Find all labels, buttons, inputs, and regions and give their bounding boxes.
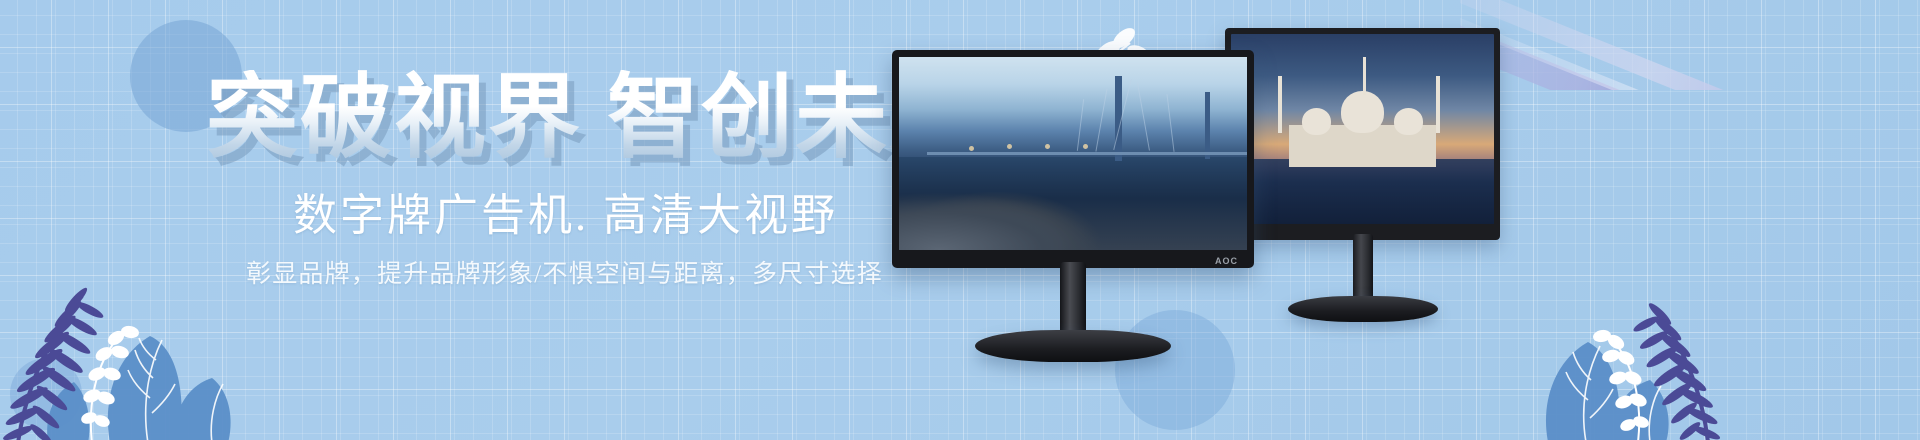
mosque-dome-center (1341, 91, 1383, 133)
monitor-front-stand-base (975, 330, 1171, 362)
aoc-logo: AOC (1215, 256, 1238, 266)
bridge-tower-far (1205, 92, 1210, 160)
tagline: 彰显品牌，提升品牌形象/不惧空间与距离，多尺寸选择 (246, 258, 883, 292)
monitor-front-stand-neck (1060, 262, 1086, 340)
product-monitors: AOC (880, 0, 1920, 440)
monitor-back-frame (1225, 28, 1500, 240)
monitor-front-frame: AOC (892, 50, 1254, 268)
mosque-dome-right (1394, 108, 1423, 135)
monitor-back (1225, 28, 1500, 320)
bridge-rocks (899, 192, 1101, 250)
mosque-minaret-right (1436, 76, 1440, 133)
promo-banner: 突破视界 智创未来 数字牌广告机. 高清大视野 彰显品牌，提升品牌形象/不惧空间… (0, 0, 1920, 440)
bridge-cable-2 (1095, 88, 1107, 151)
mosque-dome-left (1302, 108, 1331, 135)
text-block: 突破视界 智创未来 数字牌广告机. 高清大视野 彰显品牌，提升品牌形象/不惧空间… (0, 0, 920, 440)
bridge-deck (927, 152, 1247, 155)
bridge-light-3 (1045, 144, 1050, 149)
mosque-water (1231, 159, 1494, 224)
bridge-light-1 (969, 146, 974, 151)
bridge-cable-5 (1167, 94, 1175, 152)
monitor-front-screen (899, 57, 1247, 250)
mosque-minaret-left (1278, 76, 1282, 133)
monitor-back-screen (1231, 34, 1494, 224)
bridge-light-4 (1083, 144, 1088, 149)
bridge-light-2 (1007, 144, 1012, 149)
monitor-front: AOC (892, 50, 1254, 350)
subtitle: 数字牌广告机. 高清大视野 (293, 190, 838, 242)
monitor-back-stand-base (1288, 296, 1438, 322)
headline: 突破视界 智创未来 (206, 70, 983, 166)
mosque-spire (1363, 57, 1366, 95)
bridge-cable-4 (1137, 83, 1150, 152)
